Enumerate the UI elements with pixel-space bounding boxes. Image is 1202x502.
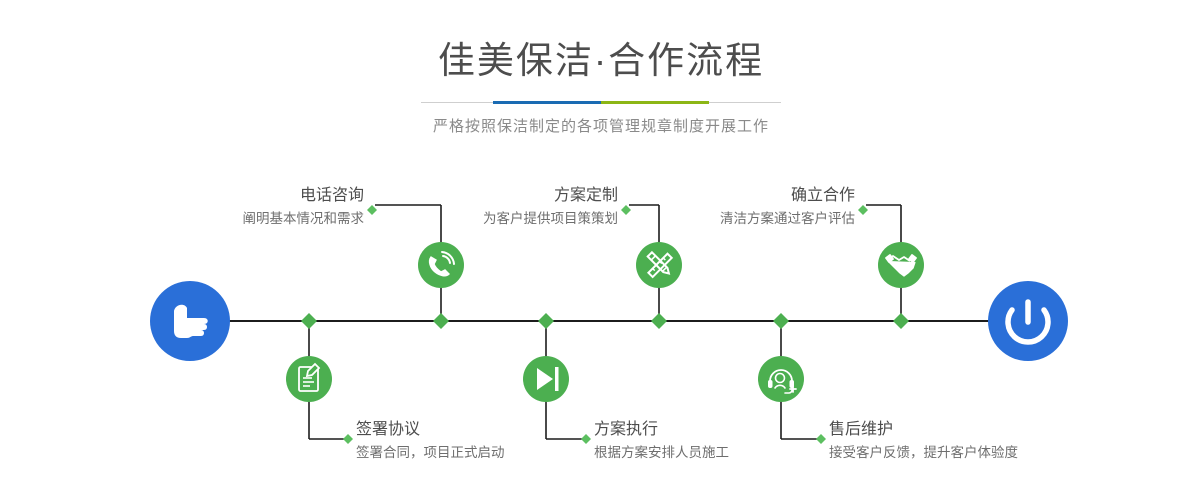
axis-node-4 [538,313,554,329]
label-marker-6 [816,434,826,444]
label-marker-2 [343,434,353,444]
step-label-5: 确立合作 清洁方案通过客户评估 [720,186,855,228]
pointing-hand-icon[interactable] [150,281,230,361]
step-title-4: 方案执行 [594,420,729,440]
label-marker-3 [621,205,631,215]
step-desc-2: 签署合同，项目正式启动 [356,443,505,462]
step-label-3: 方案定制 为客户提供项目策策划 [483,186,618,228]
step-title-6: 售后维护 [829,420,1018,440]
play-bar [555,367,559,391]
page-subtitle: 严格按照保洁制定的各项管理规章制度开展工作 [0,103,1202,136]
play-next-icon[interactable] [523,356,569,402]
step-label-1: 电话咨询 阐明基本情况和需求 [243,186,365,228]
step-title-3: 方案定制 [483,186,618,206]
step-label-4: 方案执行 根据方案安排人员施工 [594,420,729,462]
step-title-1: 电话咨询 [243,186,365,206]
axis-node-6 [773,313,789,329]
axis-node-2 [301,313,317,329]
step-title-5: 确立合作 [720,186,855,206]
step-title-2: 签署协议 [356,420,505,440]
divider-green-segment [601,101,709,104]
axis-node-5 [893,313,909,329]
page-title: 佳美保洁·合作流程 [0,0,1202,84]
process-flow-diagram: 电话咨询 阐明基本情况和需求 方案定制 为客户提供项目策策划 确立合作 清洁方案… [0,150,1202,502]
label-marker-1 [367,205,377,215]
step-label-6: 售后维护 接受客户反馈，提升客户体验度 [829,420,1018,462]
title-divider [421,102,781,103]
step-desc-5: 清洁方案通过客户评估 [720,209,855,228]
step-label-2: 签署协议 签署合同，项目正式启动 [356,420,505,462]
axis-node-1 [433,313,449,329]
step-desc-6: 接受客户反馈，提升客户体验度 [829,443,1018,462]
document-edit-icon[interactable] [286,356,332,402]
divider-blue-segment [493,101,601,104]
handshake-icon[interactable] [878,242,924,288]
headset-add-icon[interactable] [758,356,804,402]
step-desc-3: 为客户提供项目策策划 [483,209,618,228]
label-marker-4 [581,434,591,444]
step-desc-4: 根据方案安排人员施工 [594,443,729,462]
pencil-ruler-icon[interactable] [636,242,682,288]
label-marker-5 [858,205,868,215]
power-icon[interactable] [988,281,1068,361]
step-desc-1: 阐明基本情况和需求 [243,209,365,228]
phone-call-icon[interactable] [418,242,464,288]
page-header: 佳美保洁·合作流程 严格按照保洁制定的各项管理规章制度开展工作 [0,0,1202,136]
axis-node-3 [651,313,667,329]
